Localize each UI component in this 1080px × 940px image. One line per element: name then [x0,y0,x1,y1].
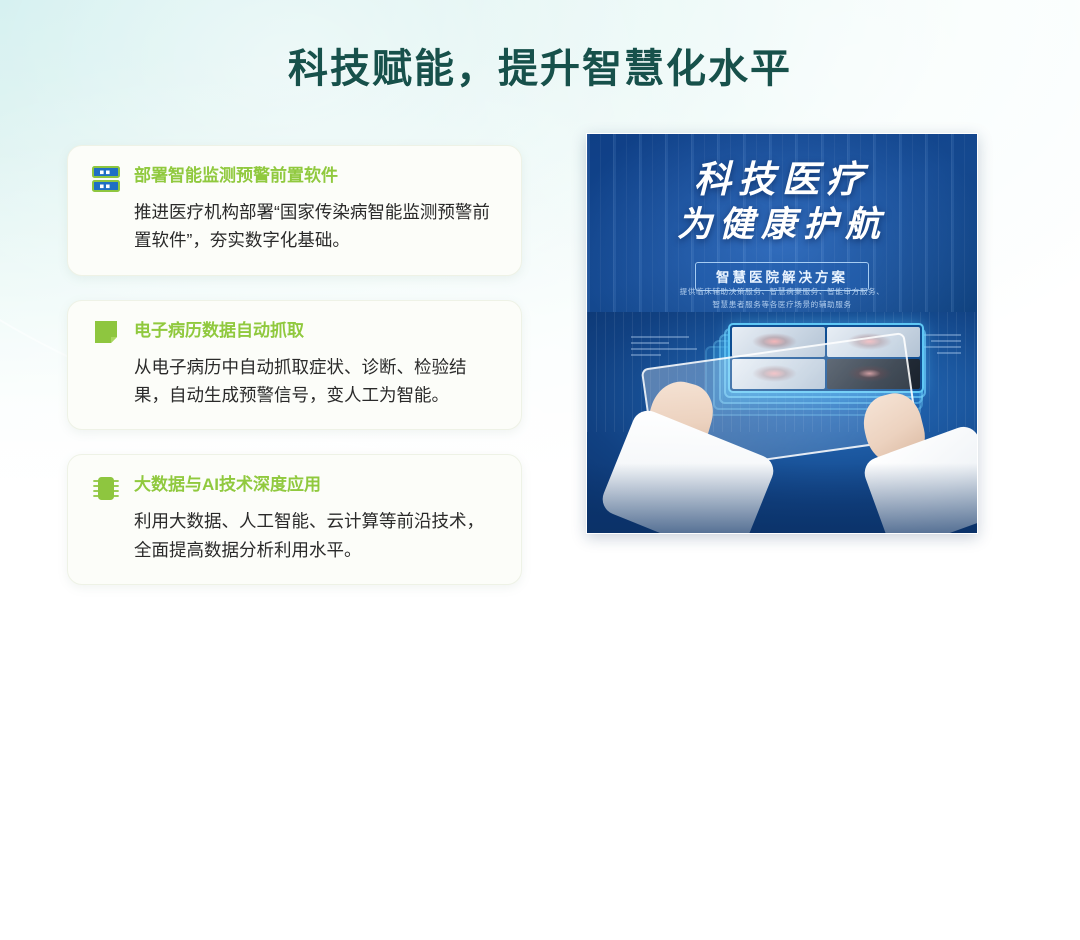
photo-bottom-shadow [587,463,977,533]
promo-subtext-line1: 提供临床辅助决策服务、智慧病案服务、智能审方服务、 [587,286,977,299]
promo-image-panel: 科技医疗 为健康护航 智慧医院解决方案 提供临床辅助决策服务、智慧病案服务、智能… [586,133,978,534]
page-title: 科技赋能，提升智慧化水平 [0,36,1080,94]
card-header: 部署智能监测预警前置软件 [90,163,497,194]
cpu-chip-icon [90,473,122,503]
data-tick [931,340,961,342]
data-tick [631,342,669,344]
card-title: 大数据与AI技术深度应用 [134,472,321,497]
bookmark-flag-icon [90,319,122,349]
promo-subtext: 提供临床辅助决策服务、智慧病案服务、智能审方服务、 智慧患者服务等各医疗场景的辅… [587,286,977,311]
feature-card: 大数据与AI技术深度应用 利用大数据、人工智能、云计算等前沿技术，全面提高数据分… [67,454,522,585]
data-tick [937,352,961,354]
feature-card-list: 部署智能监测预警前置软件 推进医疗机构部署“国家传染病智能监测预警前置软件”，夯… [67,145,522,609]
data-tick [631,354,661,356]
promo-hero-line1: 科技医疗 [587,158,977,202]
card-header: 大数据与AI技术深度应用 [90,472,497,503]
card-body: 从电子病历中自动抓取症状、诊断、检验结果，自动生成预警信号，变人工为智能。 [134,353,497,410]
card-title: 电子病历数据自动抓取 [134,318,304,343]
promo-subtext-line2: 智慧患者服务等各医疗场景的辅助服务 [587,299,977,312]
feature-card: 部署智能监测预警前置软件 推进医疗机构部署“国家传染病智能监测预警前置软件”，夯… [67,145,522,276]
server-stack-icon [90,164,122,194]
promo-hero-text: 科技医疗 为健康护航 [587,158,977,246]
card-header: 电子病历数据自动抓取 [90,318,497,349]
data-tick [631,336,689,338]
card-title: 部署智能监测预警前置软件 [134,163,338,188]
data-tick [631,348,697,350]
card-body: 推进医疗机构部署“国家传染病智能监测预警前置软件”，夯实数字化基础。 [134,198,497,255]
promo-photo [587,312,977,533]
feature-card: 电子病历数据自动抓取 从电子病历中自动抓取症状、诊断、检验结果，自动生成预警信号… [67,300,522,431]
promo-hero-line2: 为健康护航 [587,204,977,246]
card-body: 利用大数据、人工智能、云计算等前沿技术，全面提高数据分析利用水平。 [134,507,497,564]
